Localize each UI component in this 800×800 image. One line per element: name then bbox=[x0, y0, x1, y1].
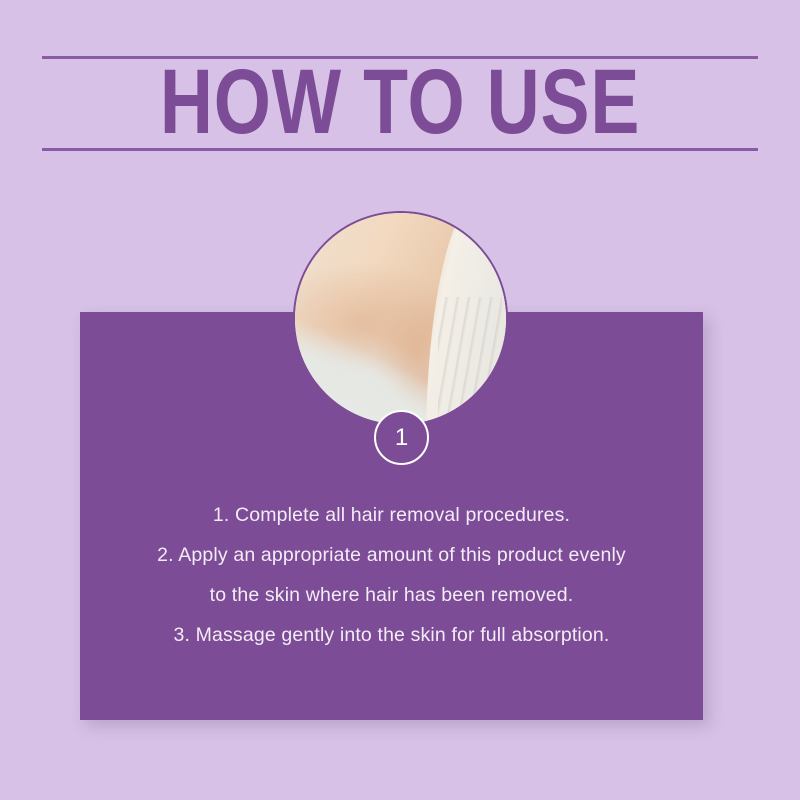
page-title: HOW TO USE bbox=[114, 59, 686, 144]
instruction-step-line: 3. Massage gently into the skin for full… bbox=[80, 615, 703, 655]
step-number-badge-label: 1 bbox=[395, 426, 408, 450]
photo-fabric-fold-lines bbox=[438, 297, 501, 419]
underarm-skin-photo bbox=[293, 211, 508, 426]
title-bottom-divider bbox=[42, 148, 758, 151]
how-to-use-poster: HOW TO USE 1 1. Complete all hair remova… bbox=[0, 0, 800, 800]
instruction-step-line: 2. Apply an appropriate amount of this p… bbox=[80, 535, 703, 575]
instruction-steps-list: 1. Complete all hair removal procedures.… bbox=[80, 495, 703, 655]
instruction-step-line: 1. Complete all hair removal procedures. bbox=[80, 495, 703, 535]
instruction-step-line: to the skin where hair has been removed. bbox=[80, 575, 703, 615]
title-block: HOW TO USE bbox=[42, 56, 758, 151]
step-number-badge: 1 bbox=[374, 410, 429, 465]
